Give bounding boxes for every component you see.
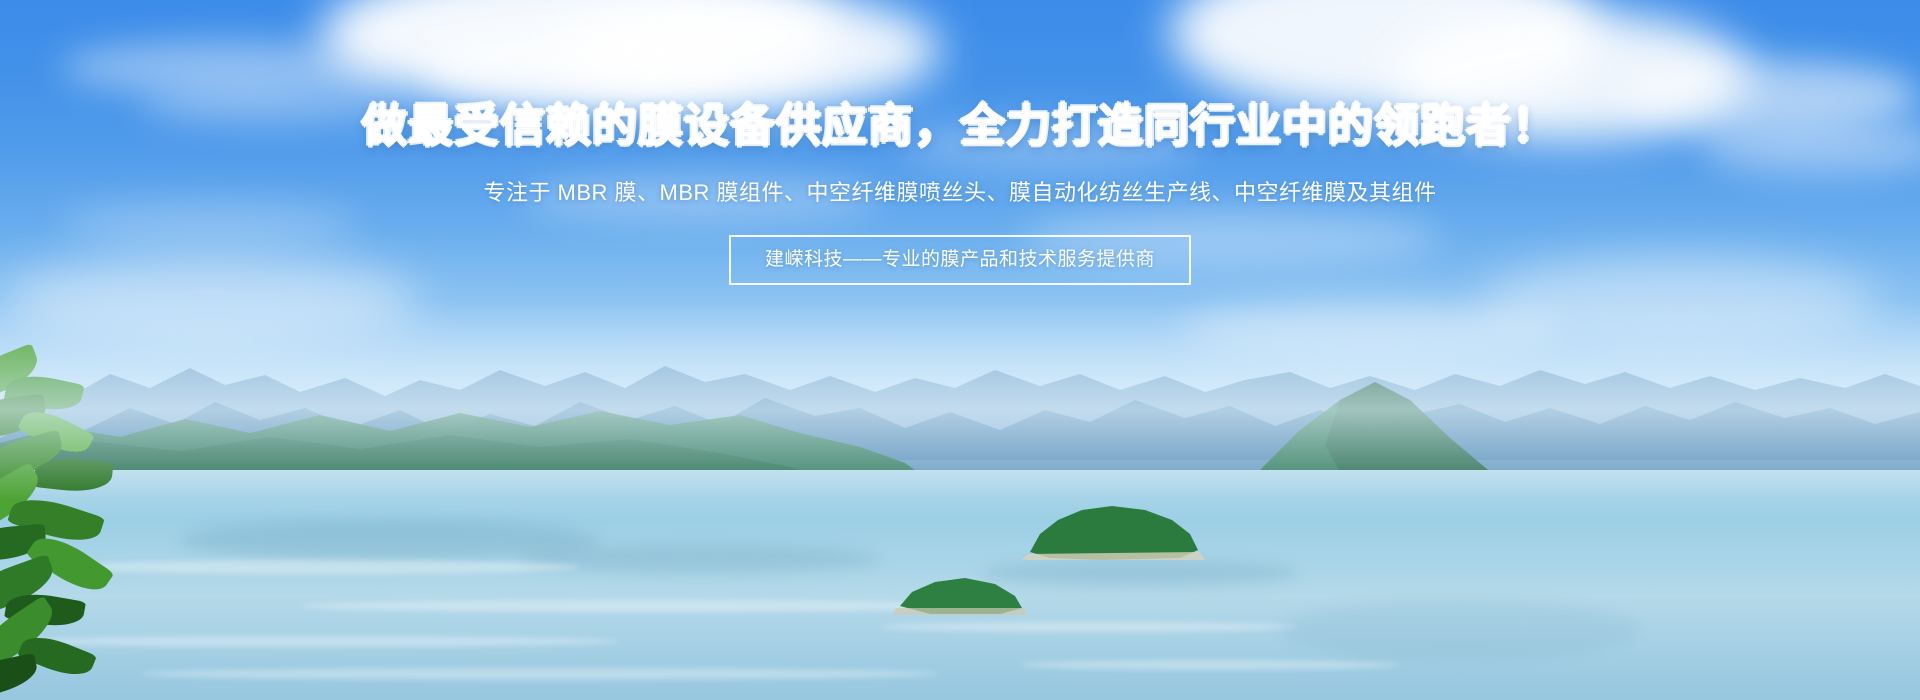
- banner-tagline-wrapper: 建嵘科技——专业的膜产品和技术服务提供商: [0, 209, 1920, 286]
- lake-water: [0, 470, 1920, 700]
- banner-subtitle: 专注于 MBR 膜、MBR 膜组件、中空纤维膜喷丝头、膜自动化纺丝生产线、中空纤…: [0, 152, 1920, 209]
- hero-banner: 做最受信赖的膜设备供应商，全力打造同行业中的领跑者！ 专注于 MBR 膜、MBR…: [0, 0, 1920, 700]
- banner-headline: 做最受信赖的膜设备供应商，全力打造同行业中的领跑者！: [0, 0, 1920, 152]
- banner-text-block: 做最受信赖的膜设备供应商，全力打造同行业中的领跑者！ 专注于 MBR 膜、MBR…: [0, 0, 1920, 285]
- banner-tagline-box: 建嵘科技——专业的膜产品和技术服务提供商: [729, 235, 1191, 286]
